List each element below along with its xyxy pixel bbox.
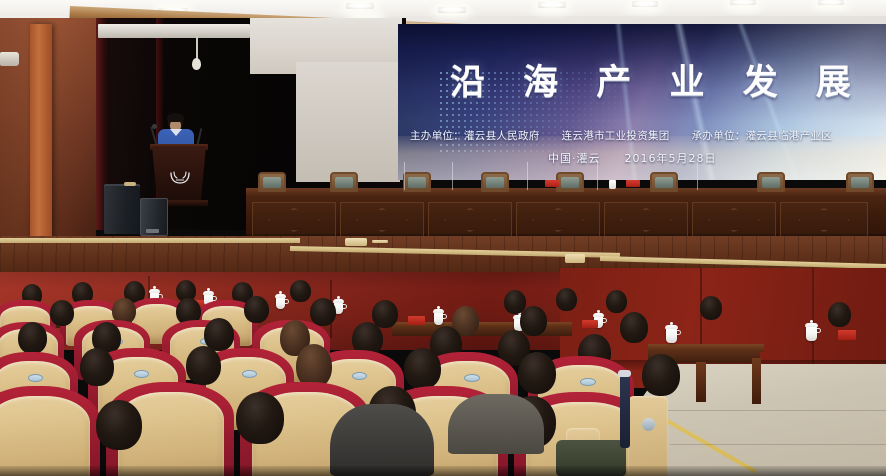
- banner-host-organizer: 主办单位：灌云县人民政府: [410, 130, 540, 142]
- stage-edge-trim: [0, 238, 300, 243]
- audience-head: [186, 346, 221, 385]
- audience-head: [520, 306, 547, 336]
- seat-number-plate: [580, 378, 596, 386]
- loudspeaker-badge: [146, 229, 159, 233]
- microphone-icon: [597, 162, 598, 190]
- audience-head: [518, 352, 556, 394]
- wall-panel-lower: [296, 62, 400, 182]
- ox-horn-emblem-icon: [168, 170, 192, 188]
- desk-leg: [752, 358, 761, 404]
- seat-armrest: [628, 396, 668, 476]
- ceiling-light: [730, 0, 756, 5]
- stage-chair: [403, 172, 431, 192]
- audience-head: [290, 280, 311, 302]
- audience-head: [828, 302, 851, 327]
- audience-head: [18, 322, 47, 354]
- stage-prop-item: [345, 238, 367, 246]
- microphone-head: [152, 124, 157, 129]
- microphone-icon: [404, 162, 405, 190]
- umbrella-handle: [618, 370, 631, 377]
- audience-head: [80, 348, 114, 386]
- ceiling-light: [538, 2, 566, 8]
- seat-number-plate: [242, 370, 257, 378]
- stage-chair: [258, 172, 286, 192]
- microphone-icon: [697, 162, 698, 190]
- floor-seam: [670, 444, 886, 445]
- seat-reserved-card: [582, 320, 598, 328]
- microphone-icon: [527, 162, 528, 190]
- stage-chair: [650, 172, 678, 192]
- ceiling-light: [818, 0, 844, 5]
- projection-screen-housing: [98, 24, 250, 38]
- banner-organizers-line: 主办单位：灌云县人民政府连云港市工业投资集团承办单位：灌云县临港产业区: [410, 128, 886, 143]
- stage-prop-item: [565, 254, 585, 263]
- floor-seam: [640, 410, 886, 411]
- seat-number-plate: [28, 374, 43, 382]
- lidded-teacup-icon: [434, 312, 443, 325]
- desk-leg: [696, 362, 706, 402]
- audience-shoulders: [448, 394, 544, 454]
- stage-chair: [846, 172, 874, 192]
- seat-armrest-cap: [642, 418, 655, 431]
- floor-shadow: [0, 466, 886, 476]
- audience-head: [620, 312, 648, 343]
- banner-co-organizer: 连云港市工业投资集团: [562, 130, 670, 142]
- stage-chair: [757, 172, 785, 192]
- table-name-card: [626, 180, 640, 187]
- ceiling-light: [632, 1, 658, 7]
- stage-prop-item: [372, 240, 388, 243]
- seat-number-plate: [464, 374, 480, 382]
- event-backdrop-banner: 沿 海 产 业 发 展 论 坛 主办单位：灌云县人民政府连云港市工业投资集团承办…: [398, 24, 886, 180]
- conference-hall-photo: 沿 海 产 业 发 展 论 坛 主办单位：灌云县人民政府连云港市工业投资集团承办…: [0, 0, 886, 476]
- audience-head: [642, 354, 680, 396]
- audience-head: [404, 348, 441, 389]
- audience-head: [96, 400, 142, 450]
- banner-title: 沿 海 产 业 发 展 论 坛: [450, 66, 886, 101]
- stage-chair: [556, 172, 584, 192]
- ceiling-light: [438, 7, 466, 13]
- audience-head: [556, 288, 577, 311]
- banner-location-date: 中国·灌云 2016年5月28日: [548, 150, 886, 166]
- seat-reserved-card: [408, 316, 425, 325]
- microphone-icon: [452, 162, 453, 190]
- audience-head: [700, 296, 722, 320]
- lidded-teacup-icon: [609, 180, 616, 189]
- audience-head: [606, 290, 627, 313]
- stage-chair: [330, 172, 358, 192]
- loudspeaker-handle: [124, 182, 136, 186]
- stage-chair: [481, 172, 509, 192]
- banner-executor-organizer: 承办单位：灌云县临港产业区: [692, 130, 832, 142]
- speaker-hair: [167, 113, 184, 122]
- seat-reserved-card: [838, 330, 856, 340]
- umbrella-icon: [620, 374, 630, 448]
- wall-pillar: [30, 24, 52, 268]
- seat-number-plate: [134, 370, 149, 378]
- screen-pull-cord: [196, 36, 198, 60]
- lidded-teacup-icon: [276, 297, 285, 309]
- table-name-card: [545, 180, 559, 187]
- audience-head: [244, 296, 269, 323]
- auditorium-seat: [0, 386, 100, 476]
- lidded-teacup-icon: [666, 328, 677, 343]
- lidded-teacup-icon: [806, 326, 817, 341]
- ceiling-light: [346, 3, 374, 9]
- screen-pull-handle: [192, 58, 201, 70]
- wall-light-fixture: [0, 52, 19, 66]
- seat-number-plate: [352, 372, 367, 380]
- loudspeaker-icon: [104, 186, 140, 234]
- audience-head: [236, 392, 284, 444]
